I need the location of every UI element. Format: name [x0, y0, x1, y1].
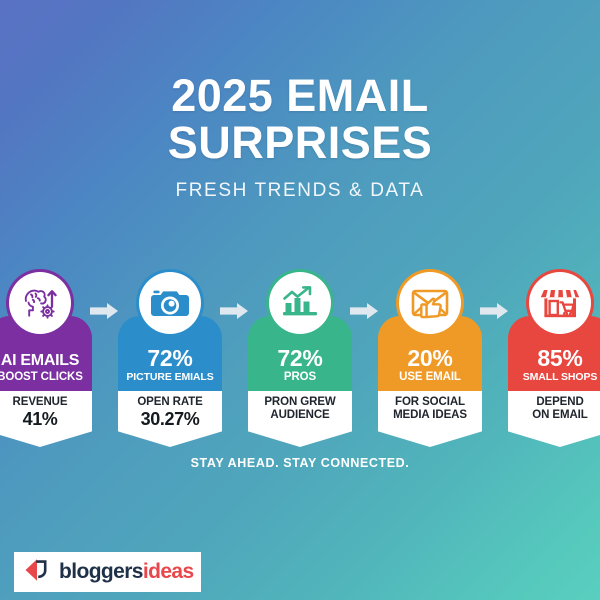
card-stat-4: 20%: [407, 346, 452, 370]
card-banner-line1-3: PRON GREW: [264, 396, 335, 409]
icon-badge-5: [529, 272, 591, 334]
stat-card-1[interactable]: AI EMAILS BOOST CLICKS REVENUE 41%: [0, 272, 92, 447]
card-banner-line2-2: 30.27%: [141, 409, 200, 429]
stats-row: AI EMAILS BOOST CLICKS REVENUE 41%: [0, 272, 600, 447]
icon-badge-1: [9, 272, 71, 334]
card-stat-label-4: USE EMAIL: [399, 371, 461, 384]
card-stat-1: AI EMAILS: [1, 352, 79, 370]
arrow-right-icon: [220, 302, 250, 320]
icon-badge-4: [399, 272, 461, 334]
card-banner-line2-3: AUDIENCE: [270, 409, 329, 422]
envelope-thumbs-up-icon: [410, 287, 450, 319]
connector-arrow-4: [482, 272, 508, 447]
title-line-1: 2025 EMAIL: [0, 72, 600, 119]
arrow-right-icon: [90, 302, 120, 320]
page-subtitle: FRESH TRENDS & DATA: [0, 180, 600, 202]
card-banner-3: PRON GREW AUDIENCE: [248, 391, 352, 447]
connector-arrow-3: [352, 272, 378, 447]
card-banner-4: FOR SOCIAL MEDIA IDEAS: [378, 391, 482, 447]
stat-card-2[interactable]: 72% PICTURE EMIALS OPEN RATE 30.27%: [118, 272, 222, 447]
card-stat-label-5: SMALL SHOPS: [523, 371, 598, 384]
bar-chart-growth-icon: [281, 285, 319, 321]
card-banner-2: OPEN RATE 30.27%: [118, 391, 222, 447]
stat-card-4[interactable]: 20% USE EMAIL FOR SOCIAL MEDIA IDEAS: [378, 272, 482, 447]
stat-card-5[interactable]: 85% SMALL SHOPS DEPEND ON EMAIL: [508, 272, 600, 447]
card-banner-line1-2: OPEN RATE: [137, 396, 202, 409]
stat-card-3[interactable]: 72% PROS PRON GREW AUDIENCE: [248, 272, 352, 447]
card-banner-line2-5: ON EMAIL: [532, 409, 587, 422]
card-banner-line2-4: MEDIA IDEAS: [393, 409, 467, 422]
card-banner-line1-1: REVENUE: [13, 396, 68, 409]
icon-badge-2: [139, 272, 201, 334]
bloggersideas-arrow-mark-icon: [24, 557, 52, 588]
card-banner-1: REVENUE 41%: [0, 391, 92, 447]
poster-header: 2025 EMAIL SURPRISES FRESH TRENDS & DATA: [0, 72, 600, 202]
icon-badge-3: [269, 272, 331, 334]
tagline: STAY AHEAD. STAY CONNECTED.: [0, 456, 600, 470]
title-line-2: SURPRISES: [0, 119, 600, 166]
brain-gear-arrow-icon: [20, 284, 60, 322]
card-stat-3: 72%: [277, 346, 322, 370]
card-stat-label-1: BOOST CLICKS: [0, 371, 83, 384]
camera-icon: [150, 286, 190, 320]
card-banner-5: DEPEND ON EMAIL: [508, 391, 600, 447]
arrow-right-icon: [350, 302, 380, 320]
logo-text-accent: ideas: [143, 560, 194, 583]
connector-arrow-1: [92, 272, 118, 447]
logo-text-primary: bloggers: [59, 560, 143, 583]
connector-arrow-2: [222, 272, 248, 447]
card-banner-line1-4: FOR SOCIAL: [395, 396, 465, 409]
infographic-poster: 2025 EMAIL SURPRISES FRESH TRENDS & DATA: [0, 0, 600, 600]
card-banner-line2-1: 41%: [23, 409, 58, 429]
storefront-cart-icon: [540, 286, 580, 320]
card-banner-line1-5: DEPEND: [536, 396, 583, 409]
arrow-right-icon: [480, 302, 510, 320]
bloggersideas-logo[interactable]: bloggersideas: [14, 552, 201, 592]
page-title: 2025 EMAIL SURPRISES: [0, 72, 600, 166]
card-stat-label-2: PICTURE EMIALS: [126, 371, 213, 384]
logo-text: bloggersideas: [59, 560, 194, 584]
card-stat-label-3: PROS: [284, 371, 316, 384]
card-stat-5: 85%: [537, 346, 582, 370]
card-stat-2: 72%: [147, 346, 192, 370]
